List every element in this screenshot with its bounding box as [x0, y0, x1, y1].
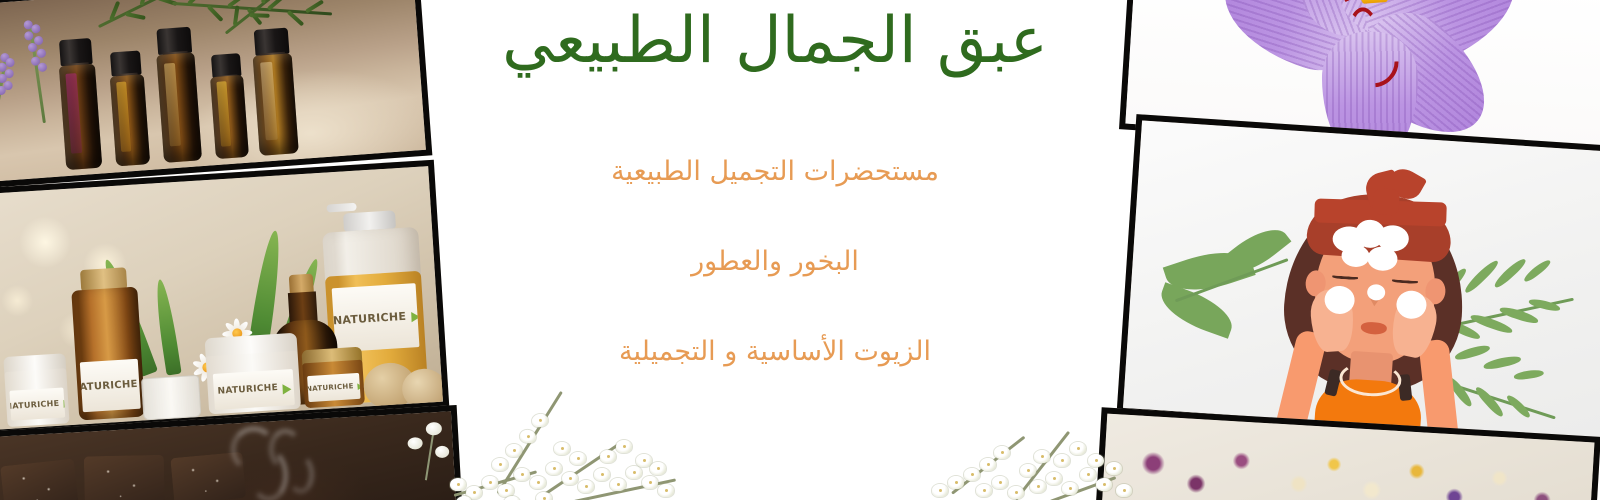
small-amber-jar: NATURICHE [301, 347, 365, 409]
oil-bottle [251, 27, 299, 156]
face-illustration-inner [1123, 120, 1600, 439]
naturiche-cream-jar: NATURICHE [205, 333, 302, 415]
naturiche-cosmetics-photo: NATURICHE NATURICHE [0, 160, 449, 437]
banner-subtitle-2: البخور والعطور [691, 246, 859, 278]
dried-flower [407, 437, 423, 450]
headband-knot [1372, 188, 1400, 216]
leaf-icon [355, 382, 362, 390]
smoke-wisp [285, 453, 315, 495]
oil-bottle [208, 53, 249, 159]
brand-text: NATURICHE [9, 398, 59, 410]
glass-jar [141, 375, 202, 421]
naturiche-label: NATURICHE [9, 387, 65, 420]
face-wash-illustration [1117, 114, 1600, 446]
woman-figure [1254, 159, 1497, 443]
leaf-icon [278, 381, 291, 394]
brand-text: NATURICHE [333, 309, 407, 327]
naturiche-label: NATURICHE [212, 369, 295, 410]
brand-text: NATURICHE [80, 378, 138, 393]
essential-oil-bottles-photo [0, 0, 432, 188]
naturiche-white-jar: NATURICHE [3, 353, 69, 427]
oil-bottle [57, 38, 102, 170]
banner-subtitle-1: مستحضرات التجميل الطبيعية [611, 156, 939, 188]
cosmetics-photo-inner: NATURICHE NATURICHE [0, 166, 443, 430]
oils-photo-inner [0, 0, 426, 182]
right-photo-collage [1090, 0, 1600, 500]
promo-banner: NATURICHE NATURICHE [0, 0, 1600, 500]
left-photo-collage: NATURICHE NATURICHE [0, 0, 456, 500]
naturiche-amber-bottle: NATURICHE [70, 267, 145, 421]
naturiche-label: NATURICHE [331, 283, 419, 352]
aloe-leaf [152, 278, 181, 375]
incense-chunk [0, 459, 79, 500]
banner-subtitle-3: الزيوت الأساسية و التجميلية [619, 336, 931, 368]
brand-text: NATURICHE [217, 383, 278, 397]
banner-title: عبق الجمال الطبيعي [502, 6, 1048, 78]
incense-chunk [84, 455, 165, 500]
naturiche-label: NATURICHE [80, 359, 141, 413]
banner-text-block: عبق الجمال الطبيعي مستحضرات التجميل الطب… [440, 0, 1110, 500]
brand-text: NATURICHE [307, 382, 354, 393]
oil-bottle [154, 27, 202, 163]
oil-bottle [108, 50, 150, 166]
naturiche-label: NATURICHE [307, 373, 361, 402]
